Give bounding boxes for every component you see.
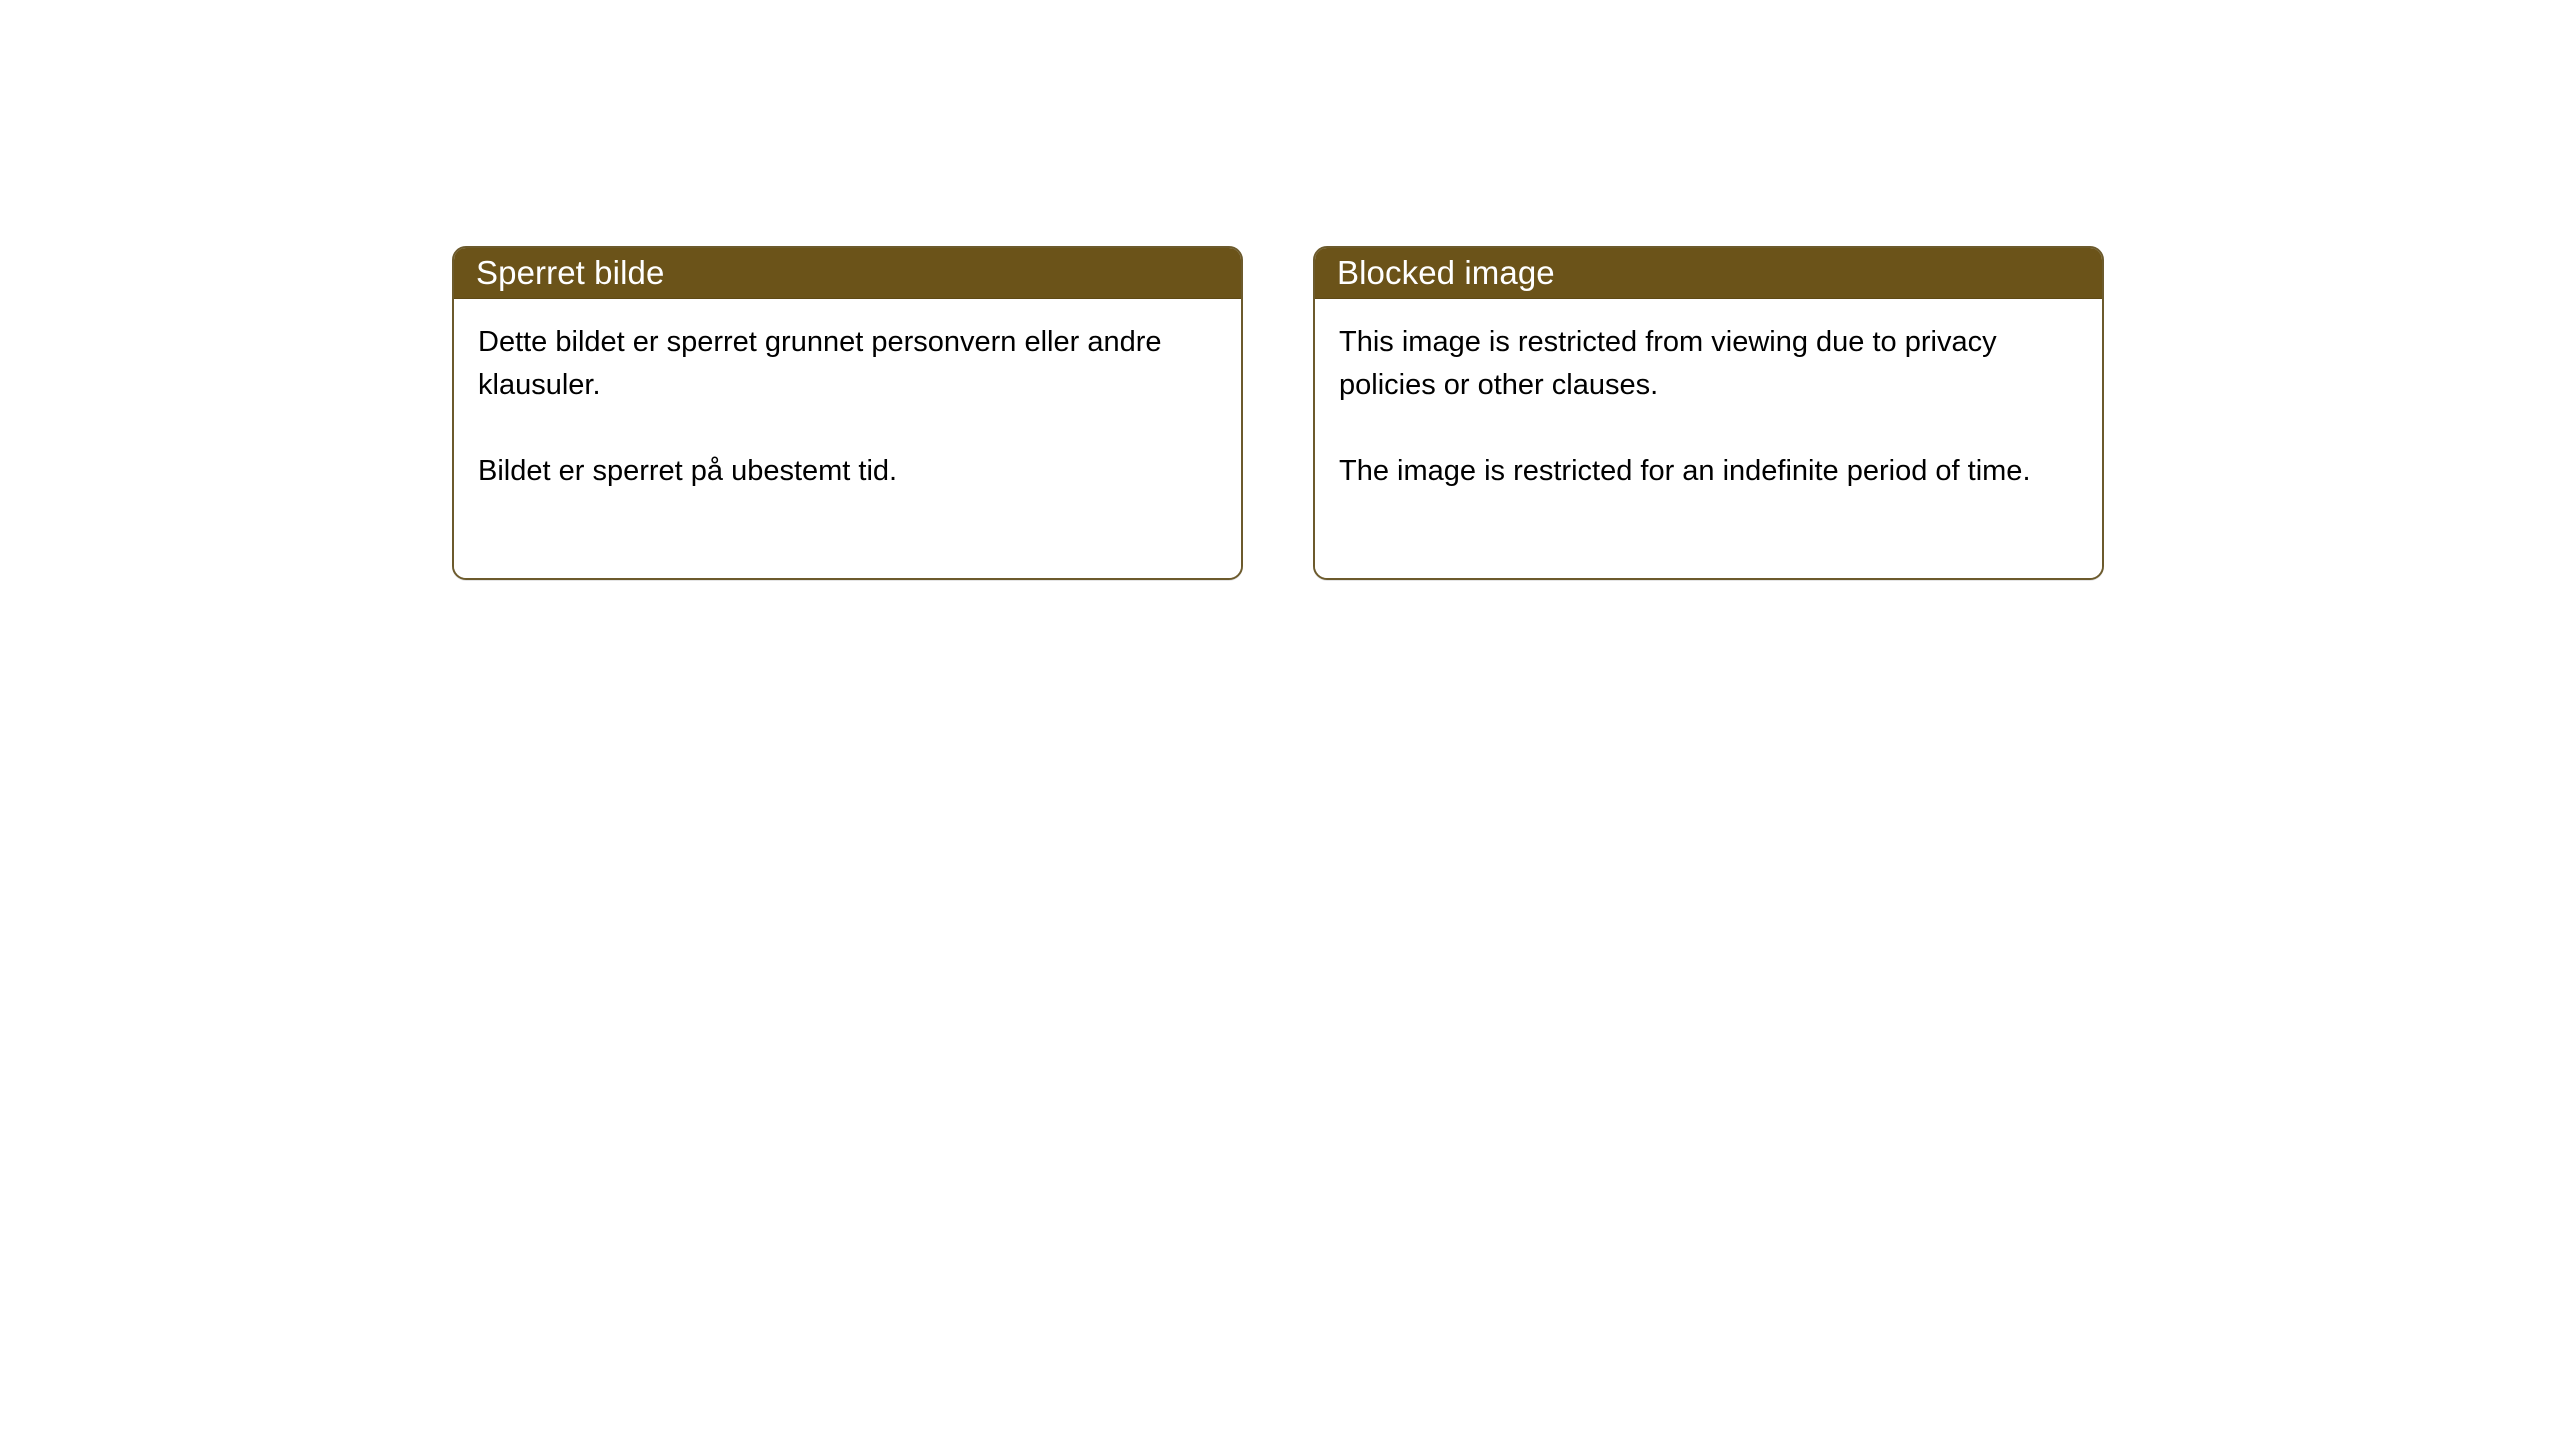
card-paragraph-en-1: This image is restricted from viewing du… (1339, 321, 2078, 407)
page-root: Sperret bilde Dette bildet er sperret gr… (0, 0, 2560, 1440)
blocked-image-card-en: Blocked image This image is restricted f… (1313, 246, 2104, 580)
card-body-en: This image is restricted from viewing du… (1315, 299, 2102, 578)
card-title-en: Blocked image (1337, 248, 1555, 298)
card-title-no: Sperret bilde (476, 248, 664, 298)
card-body-no: Dette bildet er sperret grunnet personve… (454, 299, 1241, 578)
card-paragraph-no-2: Bildet er sperret på ubestemt tid. (478, 450, 1217, 493)
card-header-no: Sperret bilde (454, 248, 1241, 299)
card-header-en: Blocked image (1315, 248, 2102, 299)
notice-card-group: Sperret bilde Dette bildet er sperret gr… (452, 246, 2104, 580)
blocked-image-card-no: Sperret bilde Dette bildet er sperret gr… (452, 246, 1243, 580)
card-paragraph-en-2: The image is restricted for an indefinit… (1339, 450, 2078, 493)
card-paragraph-no-1: Dette bildet er sperret grunnet personve… (478, 321, 1217, 407)
